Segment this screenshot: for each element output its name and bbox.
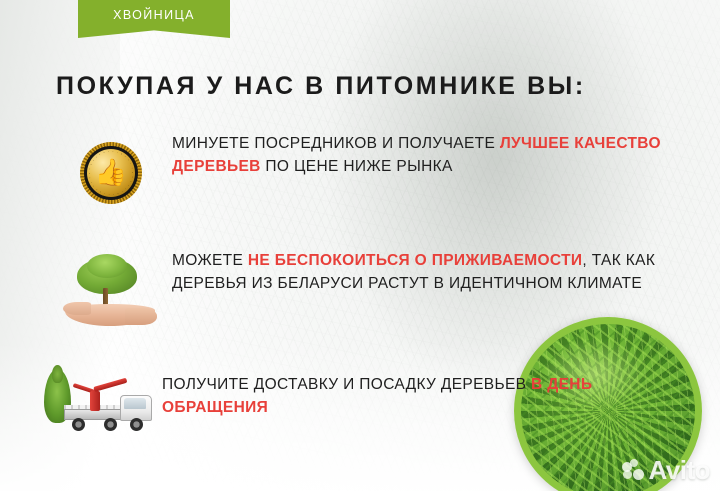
hand-wrist: [125, 308, 157, 325]
benefit-item-2: МОЖЕТЕ НЕ БЕСПОКОИТЬСЯ О ПРИЖИВАЕМОСТИ, …: [50, 250, 672, 332]
crane-truck-delivery-icon: [42, 365, 160, 439]
benefit-item-1: 👍 МИНУЕТЕ ПОСРЕДНИКОВ И ПОЛУЧАЕТЕ ЛУЧШЕЕ…: [50, 133, 672, 213]
benefit-icon-slot-3: [40, 360, 162, 444]
benefit-text-2: МОЖЕТЕ НЕ БЕСПОКОИТЬСЯ О ПРИЖИВАЕМОСТИ, …: [172, 250, 672, 295]
crane-mast: [90, 391, 100, 411]
benefit-item-3: ПОЛУЧИТЕ ДОСТАВКУ И ПОСАДКУ ДЕРЕВЬЕВ В Д…: [40, 360, 662, 444]
brand-name-label: ХВОЙНИЦА: [113, 8, 195, 22]
benefit-2-part-1: МОЖЕТЕ: [172, 252, 248, 269]
crane-arm-upper: [93, 378, 127, 392]
benefits-list: 👍 МИНУЕТЕ ПОСРЕДНИКОВ И ПОЛУЧАЕТЕ ЛУЧШЕЕ…: [0, 0, 720, 491]
benefit-3-part-1: ПОЛУЧИТЕ ДОСТАВКУ И ПОСАДКУ ДЕРЕВЬЕВ: [162, 376, 531, 393]
conifer-tree-top: [52, 365, 63, 383]
benefit-1-part-1: МИНУЕТЕ ПОСРЕДНИКОВ И ПОЛУЧАЕТЕ: [172, 135, 500, 152]
avito-logo-icon: [622, 459, 644, 481]
truck-window: [124, 398, 146, 409]
avito-wordmark: Avito: [648, 457, 710, 483]
gold-medal-thumbs-up-icon: 👍: [80, 142, 142, 204]
benefit-2-emphasis: НЕ БЕСПОКОИТЬСЯ О ПРИЖИВАЕМОСТИ: [248, 252, 583, 269]
promo-poster: ХВОЙНИЦА ПОКУПАЯ У НАС В ПИТОМНИКЕ ВЫ: 👍…: [0, 0, 720, 491]
benefit-icon-slot-2: [50, 250, 172, 332]
benefit-text-1: МИНУЕТЕ ПОСРЕДНИКОВ И ПОЛУЧАЕТЕ ЛУЧШЕЕ К…: [172, 133, 672, 178]
benefit-text-3: ПОЛУЧИТЕ ДОСТАВКУ И ПОСАДКУ ДЕРЕВЬЕВ В Д…: [162, 360, 662, 419]
benefit-1-part-3: ПО ЦЕНЕ НИЖЕ РЫНКА: [261, 158, 453, 175]
hand-fingers: [63, 302, 91, 315]
truck-wheel: [72, 418, 85, 431]
truck-wheel: [130, 418, 143, 431]
hand-holding-tree-icon: [63, 252, 159, 330]
avito-watermark: Avito: [622, 457, 710, 483]
medal-bead-ring: [89, 151, 133, 195]
benefit-icon-slot-1: 👍: [50, 133, 172, 213]
truck-wheel: [104, 418, 117, 431]
tree-crown-top: [87, 254, 127, 278]
